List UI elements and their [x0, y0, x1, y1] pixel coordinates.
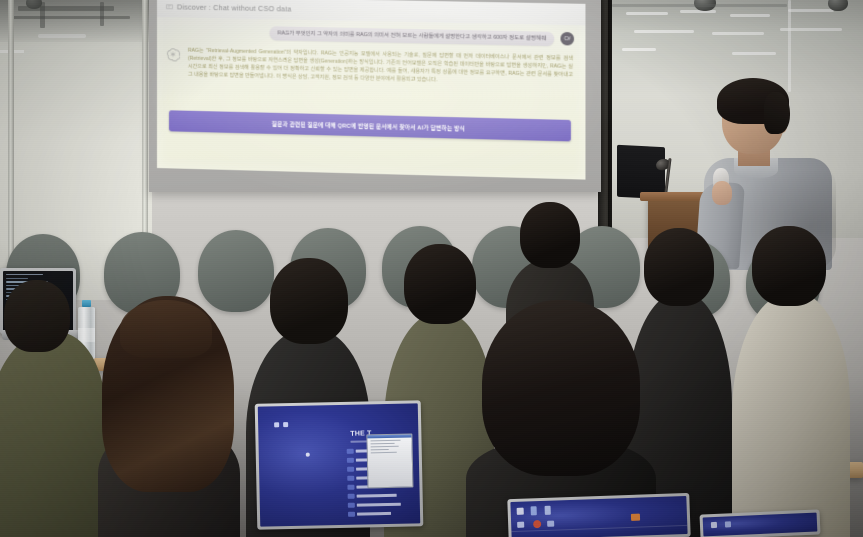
- discover-icon: [166, 3, 173, 10]
- attendee-far-right: [732, 226, 850, 537]
- openai-logo-icon: [166, 47, 180, 61]
- assistant-answer-row: RAG는 "Retrieval-Augmented Generation"의 약…: [166, 46, 573, 88]
- laptop-lid: [700, 509, 821, 537]
- laptop-screen-blue-desktop[interactable]: THE T: [258, 403, 420, 526]
- attendee-front-left-long-hair: [96, 296, 242, 537]
- laptop-screen-blue-taskbar[interactable]: [510, 496, 687, 537]
- laptop-lid: THE T: [255, 400, 424, 529]
- laptop-screen-partial[interactable]: [703, 513, 818, 537]
- user-message-row: RAG가 무엇인지 그 약자의 의미를 RAG의 의미서 전혀 모르는 사람들에…: [157, 24, 585, 46]
- laptop-lid: [507, 493, 690, 537]
- laptop-blue-desktop-right[interactable]: [507, 493, 690, 537]
- laptop-edge-right[interactable]: [700, 509, 821, 537]
- user-message-bubble: RAG가 무엇인지 그 약자의 의미를 RAG의 의미서 전혀 모르는 사람들에…: [270, 26, 555, 46]
- slide-highlight-text: 질문과 관련된 질문에 대해 QRC에 반영된 문서에서 찾아서 AI가 답변하…: [272, 119, 465, 132]
- slide-highlight-banner: 질문과 관련된 질문에 대해 QRC에 반영된 문서에서 찾아서 AI가 답변하…: [169, 110, 571, 141]
- folder-icon: [631, 514, 640, 521]
- slide-app-title: Discover : Chat without CSO data: [177, 2, 292, 13]
- dialog-titlebar: [367, 434, 411, 438]
- presentation-photo-scene: Discover : Chat without CSO data RAG가 무엇…: [0, 0, 863, 537]
- presenter-hand: [712, 181, 732, 205]
- projected-slide: Discover : Chat without CSO data RAG가 무엇…: [157, 0, 585, 180]
- presenter-hair-side: [764, 92, 790, 134]
- attendee-far-left-olive-jacket: [0, 280, 106, 537]
- laptop-dialog-window[interactable]: [366, 433, 413, 488]
- slide-content: RAG가 무엇인지 그 약자의 의미를 RAG의 의미서 전혀 모르는 사람들에…: [157, 17, 585, 180]
- assistant-answer-text: RAG는 "Retrieval-Augmented Generation"의 약…: [188, 47, 573, 88]
- projection-screen: Discover : Chat without CSO data RAG가 무엇…: [149, 0, 601, 192]
- ceiling-speaker-icon: [828, 0, 848, 11]
- user-avatar: C#: [560, 32, 574, 46]
- laptop-blue-desktop-center[interactable]: THE T: [255, 400, 424, 529]
